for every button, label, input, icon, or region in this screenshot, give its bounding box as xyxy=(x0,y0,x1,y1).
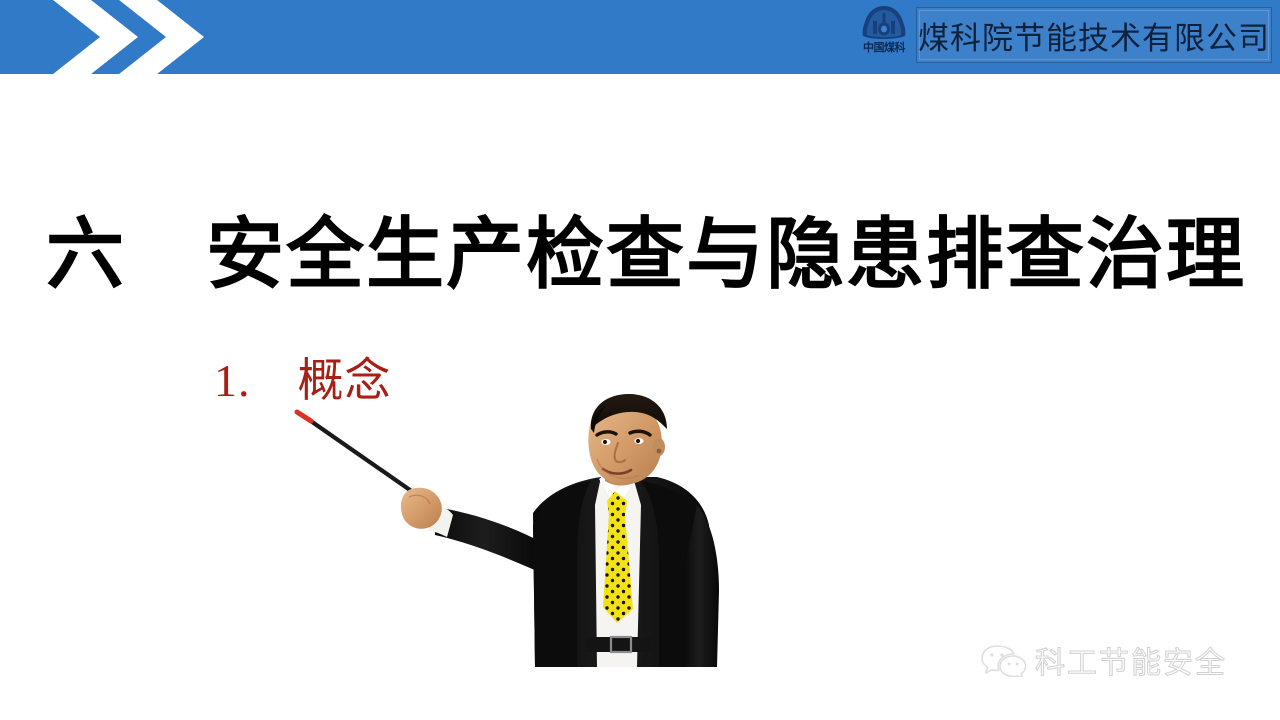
company-name-box: 煤科院节能技术有限公司 xyxy=(916,7,1272,63)
china-coal-science-logo: 中国煤科 xyxy=(848,4,920,70)
double-chevron-right-icon xyxy=(48,0,208,74)
logo-caption: 中国煤科 xyxy=(863,43,905,54)
watermark-text: 科工节能安全 xyxy=(1035,638,1227,682)
wechat-watermark: 科工节能安全 xyxy=(980,638,1227,682)
china-coal-science-emblem-icon xyxy=(858,4,910,42)
slide-header-band: 中国煤科 煤科院节能技术有限公司 xyxy=(0,0,1280,74)
slide-title: 六 安全生产检查与隐患排查治理 xyxy=(46,216,1246,294)
company-name-text: 煤科院节能技术有限公司 xyxy=(918,13,1270,58)
pointer-stick xyxy=(297,412,420,497)
wechat-icon xyxy=(980,643,1026,677)
presenter-with-pointer-photo xyxy=(285,385,735,667)
